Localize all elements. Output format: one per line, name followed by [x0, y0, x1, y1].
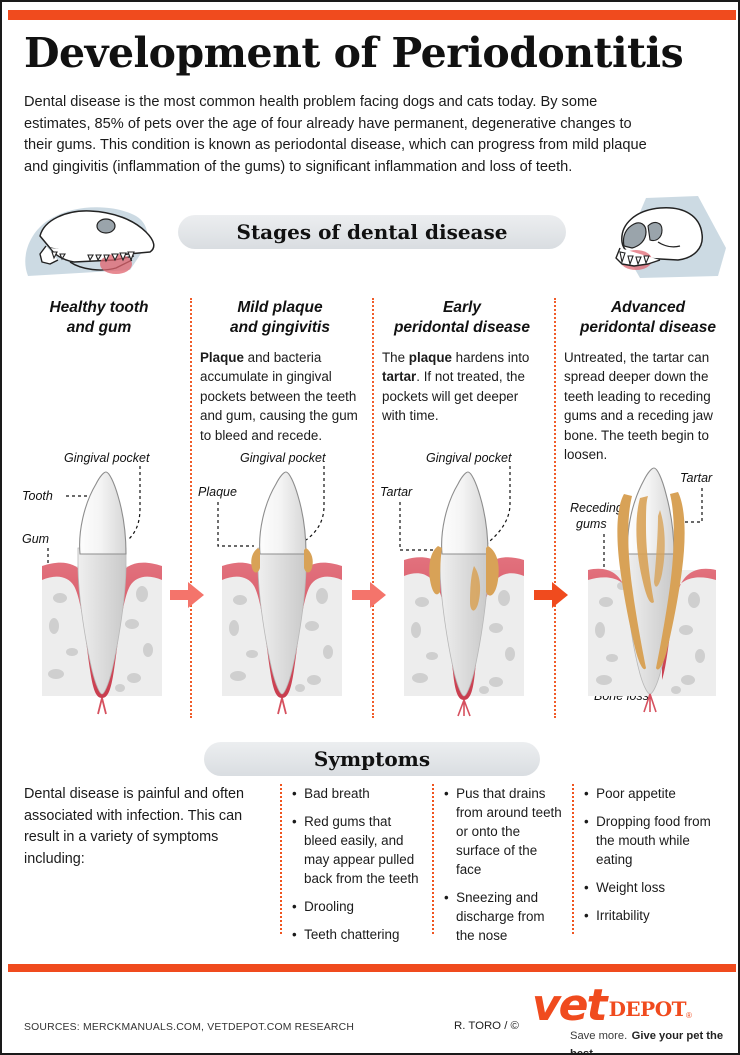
- stage-body-4: Untreated, the tartar can spread deeper …: [564, 348, 732, 465]
- symptom-item: Irritability: [584, 906, 724, 925]
- svg-text:Tartar: Tartar: [680, 471, 713, 485]
- symptoms-banner: Symptoms: [204, 742, 540, 776]
- symptom-item: Teeth chattering: [292, 925, 422, 944]
- sources-text: SOURCES: MERCKMANUALS.COM, VETDEPOT.COM …: [24, 1022, 354, 1033]
- symptoms-column-1: Bad breathRed gums that bleed easily, an…: [292, 784, 422, 953]
- stage-heading-4: Advancedperidontal disease: [564, 298, 732, 339]
- bottom-accent-bar: [8, 964, 736, 972]
- symptom-item: Drooling: [292, 897, 422, 916]
- svg-text:Plaque: Plaque: [198, 485, 237, 499]
- page-title: Development of Periodontitis: [24, 32, 724, 75]
- stage-body-2: Plaque and bacteria accumulate in gingiv…: [200, 348, 360, 445]
- symptoms-list-2: Pus that drains from around teeth or ont…: [444, 784, 566, 945]
- intro-paragraph: Dental disease is the most common health…: [24, 92, 660, 178]
- symptoms-list-1: Bad breathRed gums that bleed easily, an…: [292, 784, 422, 944]
- symptoms-divider-3: [572, 784, 574, 934]
- stage-divider-3: [554, 298, 556, 718]
- symptom-item: Bad breath: [292, 784, 422, 803]
- dog-skull-illustration: [10, 190, 180, 288]
- stage-heading-2: Mild plaqueand gingivitis: [200, 298, 360, 339]
- symptoms-column-2: Pus that drains from around teeth or ont…: [444, 784, 566, 954]
- stage-body-3: The plaque hardens into tartar. If not t…: [382, 348, 542, 426]
- symptoms-list-3: Poor appetiteDropping food from the mout…: [584, 784, 724, 925]
- svg-text:Gingival pocket: Gingival pocket: [64, 451, 150, 465]
- symptoms-intro-block: Dental disease is painful and often asso…: [24, 784, 274, 870]
- symptoms-divider-1: [280, 784, 282, 934]
- svg-text:Tooth: Tooth: [22, 489, 53, 503]
- stage-column-1: Healthy toothand gum: [14, 298, 184, 339]
- tooth-diagram-early-periodontal: Gingival pocket Tartar: [378, 448, 550, 718]
- symptom-item: Dropping food from the mouth while eatin…: [584, 812, 724, 869]
- tooth-diagram-advanced-periodontal: Tartar Receding gums Bone loss: [562, 458, 740, 718]
- symptoms-intro: Dental disease is painful and often asso…: [24, 784, 274, 870]
- symptom-item: Pus that drains from around teeth or ont…: [444, 784, 566, 879]
- top-accent-bar: [8, 10, 736, 20]
- infographic-page: Development of Periodontitis Dental dise…: [0, 0, 740, 1055]
- stages-banner: Stages of dental disease: [178, 215, 566, 249]
- tooth-diagram-healthy: Gingival pocket Tooth Gum: [16, 448, 188, 718]
- logo-depot-text: DEPOT: [609, 997, 686, 1021]
- svg-text:Gingival pocket: Gingival pocket: [426, 451, 512, 465]
- logo-registered-mark: ®: [686, 1011, 692, 1020]
- stage-heading-3: Earlyperidontal disease: [382, 298, 542, 339]
- symptom-item: Red gums that bleed easily, and may appe…: [292, 812, 422, 888]
- tooth-diagram-mild-plaque: Gingival pocket Plaque: [196, 448, 368, 718]
- stage-column-4: Advancedperidontal disease Untreated, th…: [564, 298, 732, 465]
- stage-heading-1: Healthy toothand gum: [14, 298, 184, 339]
- symptom-item: Weight loss: [584, 878, 724, 897]
- credit-text: R. TORO / ©: [454, 1020, 519, 1032]
- svg-text:Tartar: Tartar: [380, 485, 413, 499]
- symptom-item: Poor appetite: [584, 784, 724, 803]
- stage-column-3: Earlyperidontal disease The plaque harde…: [382, 298, 542, 426]
- symptoms-divider-2: [432, 784, 434, 934]
- logo-tagline-light: Save more.: [570, 1030, 627, 1042]
- cat-skull-illustration: [602, 190, 740, 288]
- svg-text:Receding: Receding: [570, 501, 623, 515]
- svg-text:Gingival pocket: Gingival pocket: [240, 451, 326, 465]
- logo-vet-text: vet: [532, 984, 606, 1028]
- stage-divider-1: [190, 298, 192, 718]
- svg-text:Gum: Gum: [22, 532, 49, 546]
- stage-column-2: Mild plaqueand gingivitis Plaque and bac…: [200, 298, 360, 445]
- vetdepot-logo[interactable]: vet DEPOT ® Save more. Give your pet the…: [532, 984, 732, 1042]
- stage-divider-2: [372, 298, 374, 718]
- svg-text:gums: gums: [576, 517, 607, 531]
- symptom-item: Sneezing and discharge from the nose: [444, 888, 566, 945]
- stages-section: Healthy toothand gum Gingival pocket Too…: [10, 298, 734, 728]
- symptoms-column-3: Poor appetiteDropping food from the mout…: [584, 784, 724, 934]
